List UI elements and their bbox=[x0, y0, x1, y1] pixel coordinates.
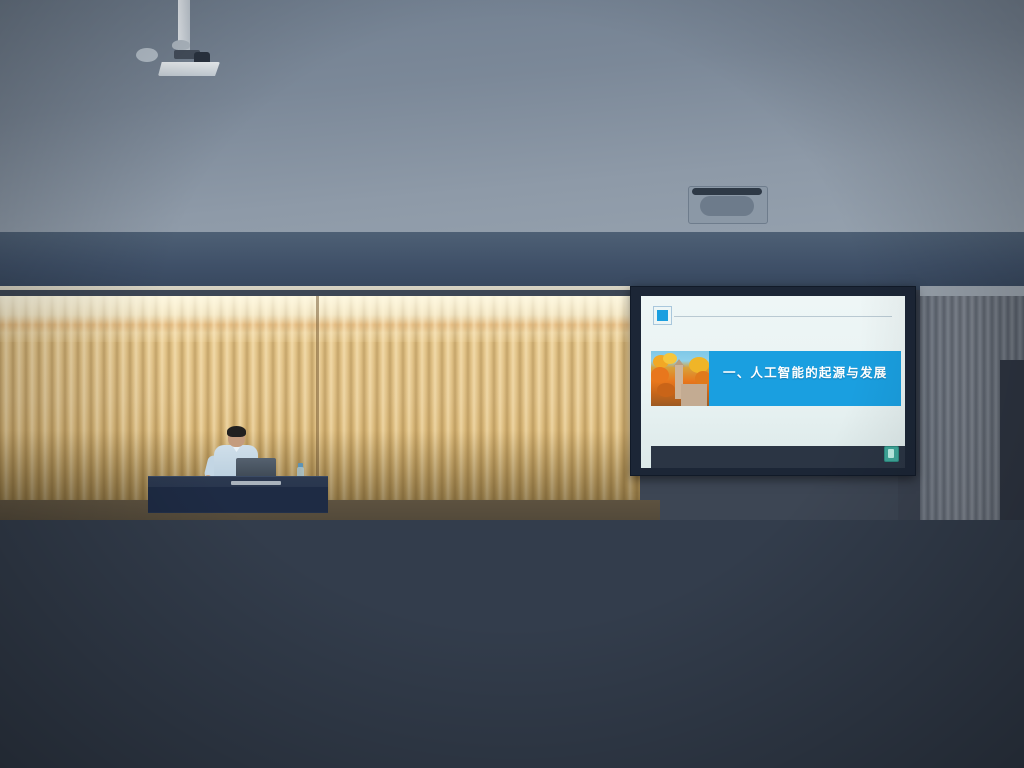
podium-desk-front bbox=[148, 487, 328, 512]
podium-laptop-base[interactable] bbox=[231, 481, 281, 485]
presenter-hair bbox=[227, 426, 246, 437]
lecture-hall-scene: 一、人工智能的起源与发展 bbox=[0, 0, 1024, 768]
audience-floor bbox=[0, 520, 1024, 768]
